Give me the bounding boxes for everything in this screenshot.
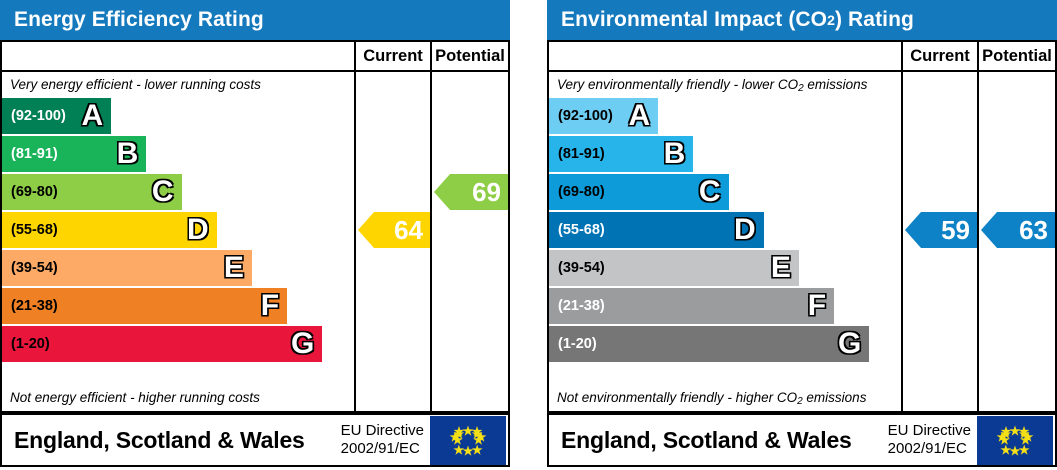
header-blank-cell [549,42,903,70]
header-potential: Potential [432,42,508,70]
band-range: (39-54) [2,260,58,276]
header-blank-cell [2,42,356,70]
band-letter: E [224,253,244,283]
directive-line-2: 2002/91/EC [888,440,971,458]
footer-directive: EU Directive 2002/91/EC [888,422,977,458]
potential-rating-value: 63 [1019,215,1048,246]
potential-column: 69 [432,72,508,411]
band-range: (81-91) [549,146,605,162]
band-list-energy: (92-100) A (81-91) B (69-80) C (55-68) [2,98,354,364]
band-letter: C [699,177,721,207]
header-potential: Potential [979,42,1055,70]
band-range: (39-54) [549,260,605,276]
band-a: (92-100) A [2,98,111,134]
band-letter: C [152,177,174,207]
band-letter: E [771,253,791,283]
footer-bar-energy: England, Scotland & Wales EU Directive 2… [2,413,508,465]
header-row: Current Potential [549,42,1055,72]
band-letter: A [81,101,103,131]
potential-rating-arrow: 69 [434,174,508,210]
band-e: (39-54) E [2,250,252,286]
rating-grid-energy: Current Potential Very energy efficient … [0,40,510,467]
panel-title-environmental: Environmental Impact (CO2) Rating [547,0,1057,40]
directive-line-1: EU Directive [341,422,424,440]
potential-rating-arrow: 63 [981,212,1055,248]
body-row: Very energy efficient - lower running co… [2,72,508,413]
band-letter: A [628,101,650,131]
band-range: (81-91) [2,146,58,162]
caption-bottom-text: Not energy efficient - higher running co… [10,390,260,405]
footer-directive: EU Directive 2002/91/EC [341,422,430,458]
rating-grid-environmental: Current Potential Very environmentally f… [547,40,1057,467]
caption-bottom: Not energy efficient - higher running co… [2,385,354,411]
eu-flag-icon [430,416,506,465]
band-letter: B [117,139,139,169]
potential-column: 63 [979,72,1055,411]
current-column: 59 [903,72,979,411]
panel-title-text: Energy Efficiency Rating [14,8,264,32]
footer-bar-environmental: England, Scotland & Wales EU Directive 2… [549,413,1055,465]
band-range: (92-100) [549,108,613,124]
caption-top: Very environmentally friendly - lower CO… [549,72,901,98]
directive-line-2: 2002/91/EC [341,440,424,458]
band-d: (55-68) D [549,212,764,248]
band-f: (21-38) F [2,288,287,324]
caption-bottom: Not environmentally friendly - higher CO… [549,385,901,411]
band-range: (1-20) [549,336,597,352]
band-c: (69-80) C [549,174,729,210]
eu-flag-stars [430,416,506,465]
panel-title-suffix: ) Rating [835,8,914,32]
band-range: (21-38) [549,298,605,314]
band-range: (69-80) [2,184,58,200]
band-range: (55-68) [549,222,605,238]
energy-efficiency-panel: Energy Efficiency Rating Current Potenti… [0,0,510,467]
band-range: (21-38) [2,298,58,314]
current-rating-value: 64 [394,215,423,246]
band-f: (21-38) F [549,288,834,324]
panel-title-energy: Energy Efficiency Rating [0,0,510,40]
band-e: (39-54) E [549,250,799,286]
caption-top-text: Very energy efficient - lower running co… [10,77,261,92]
eu-flag-stars [977,416,1053,465]
band-a: (92-100) A [549,98,658,134]
band-range: (55-68) [2,222,58,238]
band-letter: G [838,329,861,359]
caption-top: Very energy efficient - lower running co… [2,72,354,98]
band-range: (92-100) [2,108,66,124]
band-list-environmental: (92-100) A (81-91) B (69-80) C (55-68) [549,98,901,364]
current-rating-value: 59 [941,215,970,246]
band-letter: F [261,291,279,321]
band-b: (81-91) B [2,136,146,172]
caption-top-suffix: emissions [804,77,868,92]
band-c: (69-80) C [2,174,182,210]
epc-charts-container: Energy Efficiency Rating Current Potenti… [0,0,1057,467]
band-letter: F [808,291,826,321]
current-rating-arrow: 64 [358,212,430,248]
panel-title-text: Environmental Impact (CO [561,8,827,32]
current-column: 64 [356,72,432,411]
band-g: (1-20) G [2,326,322,362]
caption-bottom-text: Not environmentally friendly - higher CO [557,390,797,405]
band-letter: B [664,139,686,169]
potential-rating-value: 69 [472,177,501,208]
directive-line-1: EU Directive [888,422,971,440]
band-range: (69-80) [549,184,605,200]
bands-column: Very environmentally friendly - lower CO… [549,72,903,411]
footer-region: England, Scotland & Wales [2,427,341,454]
environmental-impact-panel: Environmental Impact (CO2) Rating Curren… [547,0,1057,467]
bands-column: Very energy efficient - lower running co… [2,72,356,411]
header-row: Current Potential [2,42,508,72]
header-current: Current [356,42,432,70]
header-current: Current [903,42,979,70]
band-g: (1-20) G [549,326,869,362]
band-letter: D [734,215,756,245]
band-letter: G [291,329,314,359]
band-b: (81-91) B [549,136,693,172]
eu-flag-icon [977,416,1053,465]
current-rating-arrow: 59 [905,212,977,248]
band-range: (1-20) [2,336,50,352]
caption-top-text: Very environmentally friendly - lower CO [557,77,798,92]
caption-bottom-suffix: emissions [803,390,867,405]
band-d: (55-68) D [2,212,217,248]
footer-region: England, Scotland & Wales [549,427,888,454]
body-row: Very environmentally friendly - lower CO… [549,72,1055,413]
band-letter: D [187,215,209,245]
